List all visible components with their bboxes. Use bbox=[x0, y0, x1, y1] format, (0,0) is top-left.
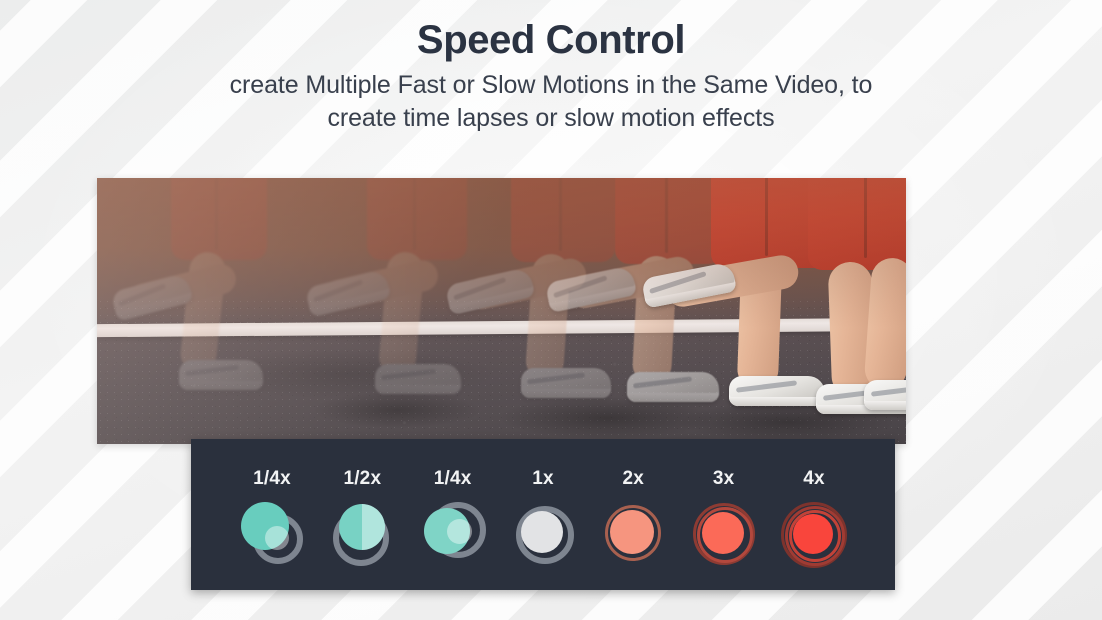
speed-dial-3x[interactable] bbox=[693, 502, 755, 564]
page-subtitle: create Multiple Fast or Slow Motions in … bbox=[111, 69, 991, 135]
speed-label: 4x bbox=[803, 468, 825, 490]
speed-option-quarter-a[interactable]: 1/4x bbox=[235, 468, 309, 564]
speed-label: 1/2x bbox=[343, 468, 381, 490]
speed-label: 1/4x bbox=[253, 468, 291, 490]
speed-option-half[interactable]: 1/2x bbox=[325, 468, 399, 564]
speed-label: 2x bbox=[623, 468, 645, 490]
speed-dial-quarter-a[interactable] bbox=[241, 502, 303, 564]
speed-control-panel: 1/4x 1/2x 1/4x bbox=[191, 439, 895, 590]
speed-option-normal[interactable]: 1x bbox=[506, 468, 580, 564]
speed-dial-2x[interactable] bbox=[602, 502, 664, 564]
speed-dial-half[interactable] bbox=[331, 502, 393, 564]
speed-label: 1x bbox=[532, 468, 554, 490]
dial-quarter-icon bbox=[265, 526, 289, 550]
speed-option-quarter-b[interactable]: 1/4x bbox=[416, 468, 490, 564]
dial-quarter-icon bbox=[447, 519, 472, 544]
photo-film-wash bbox=[97, 178, 906, 444]
dial-disc-icon bbox=[793, 514, 833, 554]
speed-option-4x[interactable]: 4x bbox=[777, 468, 851, 564]
speed-dial-normal[interactable] bbox=[512, 502, 574, 564]
speed-label: 3x bbox=[713, 468, 735, 490]
header: Speed Control create Multiple Fast or Sl… bbox=[0, 0, 1102, 135]
page-subtitle-line-2: create time lapses or slow motion effect… bbox=[111, 102, 991, 135]
video-preview-image bbox=[97, 178, 906, 444]
dial-disc-icon bbox=[610, 510, 654, 554]
dial-disc-icon bbox=[702, 512, 744, 554]
speed-option-2x[interactable]: 2x bbox=[596, 468, 670, 564]
page-subtitle-line-1: create Multiple Fast or Slow Motions in … bbox=[111, 69, 991, 102]
speed-option-3x[interactable]: 3x bbox=[687, 468, 761, 564]
dial-disc-icon bbox=[521, 511, 563, 553]
speed-dial-quarter-b[interactable] bbox=[422, 502, 484, 564]
speed-label: 1/4x bbox=[434, 468, 472, 490]
page-title: Speed Control bbox=[0, 0, 1102, 63]
speed-options-list: 1/4x 1/2x 1/4x bbox=[191, 439, 895, 590]
speed-dial-4x[interactable] bbox=[783, 502, 845, 564]
